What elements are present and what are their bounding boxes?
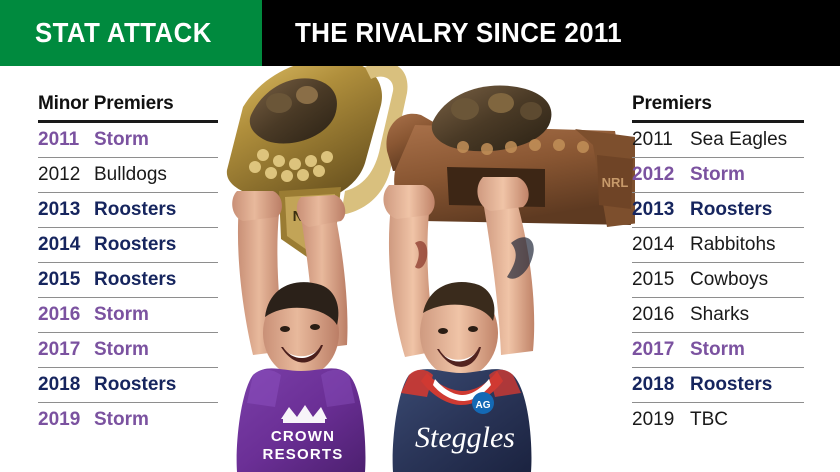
minor-premiers-year: 2013 [38,199,94,221]
minor-premiers-year: 2012 [38,164,94,186]
jersey-sponsor-left: CROWN [271,428,335,445]
premiers-team: Sea Eagles [690,129,804,151]
premiers-team: Storm [690,339,804,361]
svg-text:AG: AG [476,400,491,411]
minor-premiers-row: 2015Roosters [38,263,218,297]
minor-premiers-team: Storm [94,409,218,431]
jersey-sponsor-left-2: RESORTS [263,446,344,463]
minor-premiers-year: 2018 [38,374,94,396]
premiers-year: 2012 [632,164,690,186]
premiers-year: 2016 [632,304,690,326]
minor-premiers-team: Roosters [94,234,218,256]
premiers-team: Roosters [690,374,804,396]
premiers-year: 2015 [632,269,690,291]
minor-premiers-row: 2016Storm [38,298,218,332]
minor-premiers-row: 2011Storm [38,123,218,157]
premiers-row: 2018Roosters [632,368,804,402]
premiers-row: 2017Storm [632,333,804,367]
minor-premiers-row: 2013Roosters [38,193,218,227]
premiers-team: Rabbitohs [690,234,804,256]
stat-attack-brand-box: STAT ATTACK [0,0,262,66]
minor-premiers-team: Roosters [94,374,218,396]
minor-premiers-year: 2011 [38,129,94,151]
minor-premiers-row: 2018Roosters [38,368,218,402]
players-trophies-photo: NRL NRL [215,45,635,472]
premiers-row: 2019TBC [632,403,804,437]
headline-box: THE RIVALRY SINCE 2011 [262,0,840,66]
premiers-team: Sharks [690,304,804,326]
premiers-title: Premiers [632,92,804,116]
premiers-team: Roosters [690,199,804,221]
premiers-team: TBC [690,409,804,431]
stat-attack-label: STAT ATTACK [35,17,212,49]
premiers-year: 2018 [632,374,690,396]
minor-premiers-year: 2015 [38,269,94,291]
minor-premiers-row: 2012Bulldogs [38,158,218,192]
premiers-year: 2011 [632,129,690,151]
headline-label: THE RIVALRY SINCE 2011 [295,17,622,49]
premiers-year: 2019 [632,409,690,431]
premiers-year: 2014 [632,234,690,256]
minor-premiers-year: 2017 [38,339,94,361]
players-illustration: NRL NRL [215,45,635,472]
premiers-team: Storm [690,164,804,186]
trophy-nrl-badge-right: NRL [602,175,629,190]
minor-premiers-row: 2017Storm [38,333,218,367]
premiers-row: 2011Sea Eagles [632,123,804,157]
premiers-column: Premiers 2011Sea Eagles2012Storm2013Roos… [632,92,804,437]
premiers-row: 2016Sharks [632,298,804,332]
minor-premiers-row: 2019Storm [38,403,218,437]
minor-premiers-team: Storm [94,304,218,326]
premiers-row: 2014Rabbitohs [632,228,804,262]
minor-premiers-column: Minor Premiers 2011Storm2012Bulldogs2013… [38,92,218,437]
premiers-team: Cowboys [690,269,804,291]
minor-premiers-team: Roosters [94,199,218,221]
minor-premiers-year: 2014 [38,234,94,256]
header-bar: STAT ATTACK THE RIVALRY SINCE 2011 [0,0,840,66]
minor-premiers-year: 2016 [38,304,94,326]
premiers-row: 2012Storm [632,158,804,192]
minor-premiers-team: Bulldogs [94,164,218,186]
minor-premiers-team: Storm [94,129,218,151]
premiers-row: 2015Cowboys [632,263,804,297]
premiers-year: 2013 [632,199,690,221]
premiers-list: 2011Sea Eagles2012Storm2013Roosters2014R… [632,123,804,437]
minor-premiers-team: Roosters [94,269,218,291]
minor-premiers-list: 2011Storm2012Bulldogs2013Roosters2014Roo… [38,123,218,437]
minor-premiers-row: 2014Roosters [38,228,218,262]
minor-premiers-team: Storm [94,339,218,361]
jersey-sponsor-right: Steggles [415,421,515,454]
premiers-year: 2017 [632,339,690,361]
minor-premiers-year: 2019 [38,409,94,431]
minor-premiers-title: Minor Premiers [38,92,218,116]
premiers-row: 2013Roosters [632,193,804,227]
